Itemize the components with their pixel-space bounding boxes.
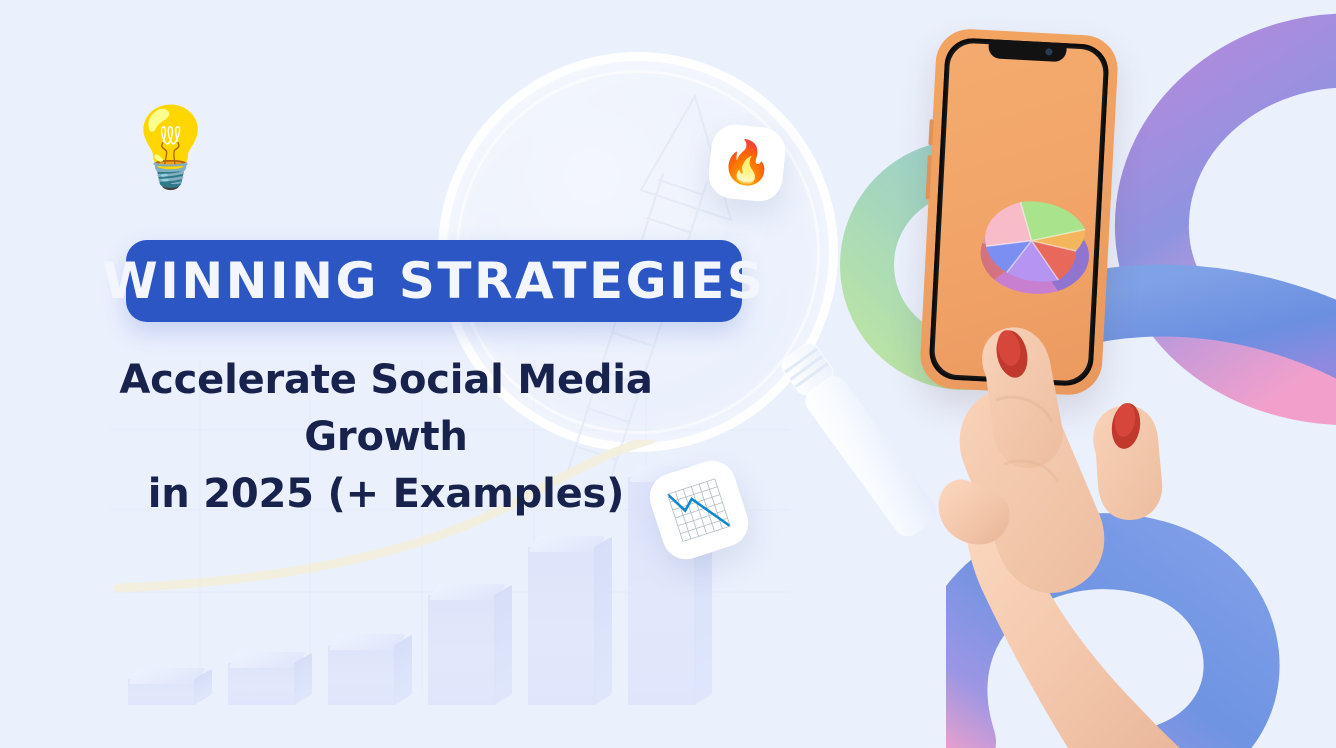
headline-line-2: in 2025 (+ Examples) — [74, 466, 698, 523]
bar-1 — [128, 679, 196, 705]
phone-notch — [988, 39, 1067, 62]
fire-icon: 🔥 — [719, 139, 775, 186]
hand-holding-phone — [900, 164, 1200, 748]
bar-5 — [528, 547, 596, 705]
fire-icon-card: 🔥 — [706, 122, 787, 203]
bar-3 — [328, 645, 396, 705]
blog-banner: 🔥 📉 💡 WINNING STRATEGIES Accelerate Soci… — [0, 0, 1336, 748]
light-bulb-icon: 💡 — [122, 108, 202, 213]
badge-label: WINNING STRATEGIES — [103, 252, 766, 310]
page-title: Accelerate Social Media Growth in 2025 (… — [74, 352, 698, 522]
status-badge: WINNING STRATEGIES — [126, 240, 742, 322]
smartphone-pie-chart-illustration — [900, 14, 1200, 748]
bar-2 — [228, 663, 296, 705]
bar-4 — [428, 595, 496, 705]
headline-line-1: Accelerate Social Media Growth — [119, 357, 652, 460]
